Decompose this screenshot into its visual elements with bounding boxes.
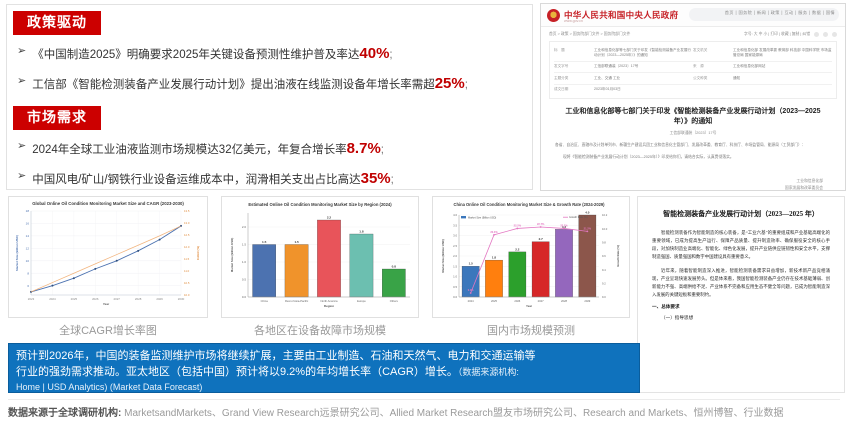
svg-text:China Online Oil Condition Mon: China Online Oil Condition Monitoring Ma…: [453, 202, 605, 207]
chart-caption-3: 国内市场规模预测: [432, 322, 630, 338]
svg-text:2027: 2027: [113, 297, 120, 301]
market-bullet-2-after: ;: [391, 174, 394, 186]
arrow-marker-icon: ➢: [17, 139, 26, 153]
svg-text:4.0: 4.0: [453, 213, 457, 217]
forecast-note-line-1: 预计到2026年，中国的装备监测维护市场将继续扩展，主要由工业制造、石油和天然气…: [16, 349, 632, 365]
svg-text:2030: 2030: [178, 297, 185, 301]
policy-bullet-1-text: 《中国制造2025》明确要求2025年关键设备预测性维护普及率达40%;: [32, 44, 392, 64]
meta-value: 工业、交通 工业: [594, 76, 693, 81]
svg-text:2026: 2026: [514, 299, 520, 303]
svg-text:0.0: 0.0: [453, 295, 457, 299]
policy-bullet-1-after: ;: [389, 49, 392, 61]
gov-body: 首页 > 政策 > 国务院部门文件 > 国务院部门文件 字号: 大 中 小 | …: [541, 27, 845, 191]
market-bullet-1-text: 2024年全球工业油液监测市场规模达32亿美元，年复合增长率8.7%;: [32, 139, 384, 159]
svg-text:0.5: 0.5: [453, 285, 457, 289]
svg-text:9.8: 9.8: [602, 240, 606, 244]
svg-text:Growth Rate (%): Growth Rate (%): [569, 216, 588, 219]
arrow-marker-icon: ➢: [17, 74, 26, 88]
chart-caption-2: 各地区在设备故障市场规模: [221, 322, 419, 338]
svg-text:0.8: 0.8: [392, 264, 397, 268]
svg-text:10.2: 10.2: [602, 213, 608, 217]
svg-text:1.0: 1.0: [242, 260, 247, 264]
footer-divider: [8, 399, 840, 400]
svg-text:2.7: 2.7: [539, 237, 544, 241]
svg-text:22.2%: 22.2%: [560, 223, 568, 227]
gov-signature-2: 国家发展和改革委员会: [549, 185, 823, 191]
svg-text:Market Size (Billion USD): Market Size (Billion USD): [15, 235, 19, 271]
svg-text:North America: North America: [320, 299, 338, 303]
svg-text:14: 14: [26, 234, 30, 238]
svg-text:0.5: 0.5: [242, 278, 247, 282]
svg-text:Year: Year: [103, 302, 110, 306]
meta-key: 成文日期: [554, 87, 594, 92]
gov-website-screenshot: 中华人民共和国中央人民政府 首页 | 国务院 | 新闻 | 政策 | 互动 | …: [540, 3, 846, 191]
svg-text:10.5: 10.5: [184, 281, 190, 285]
svg-text:1.5: 1.5: [262, 240, 267, 244]
table-row: 标 题 工业和信息化部等七部门关于印发《智能检测装备产业发展行动计划（2023—…: [554, 45, 832, 62]
svg-text:20.0%: 20.0%: [490, 230, 498, 234]
footer-label: 数据来源于全球调研机构:: [8, 408, 121, 419]
svg-text:9.0: 9.0: [602, 295, 606, 299]
svg-text:9.6: 9.6: [602, 254, 606, 258]
table-row: 成文日期 2023年01月03日: [554, 85, 832, 95]
chart-card-region-bars: Estimated Online Oil Condition Monitorin…: [221, 196, 419, 318]
chart-card-global-cagr: Global Online Oil Condition Monitoring M…: [8, 196, 208, 318]
svg-text:2024: 2024: [468, 299, 474, 303]
svg-text:CAGR (%): CAGR (%): [196, 246, 200, 260]
policy-bullet-2: ➢ 工信部《智能检测装备产业发展行动计划》提出油液在线监测设备年增长率需超25%…: [17, 74, 532, 94]
svg-text:12.0: 12.0: [184, 245, 190, 249]
data-sources-footer: 数据来源于全球调研机构: MarketsandMarkets、Grand Vie…: [8, 404, 844, 419]
svg-text:1.8: 1.8: [359, 229, 364, 233]
policy-bullet-2-before: 工信部《智能检测装备产业发展行动计划》提出油液在线监测设备年增长率需超: [32, 79, 435, 91]
region-market-bar-chart: Estimated Online Oil Condition Monitorin…: [222, 197, 418, 317]
svg-text:1.5: 1.5: [242, 243, 247, 247]
svg-text:13.0: 13.0: [184, 221, 190, 225]
market-badge: 市场需求: [13, 106, 101, 130]
svg-text:China: China: [261, 299, 269, 303]
svg-text:2.5: 2.5: [453, 244, 457, 248]
gov-toolbar[interactable]: 字号: 大 中 小 | 打印 | 收藏 | 复制 | 纠错: [744, 32, 837, 37]
svg-text:2.0: 2.0: [453, 254, 457, 258]
arrow-marker-icon: ➢: [17, 44, 26, 58]
svg-text:2027: 2027: [538, 299, 544, 303]
gov-document-number: 工信部联通装〔2023〕17号: [549, 131, 837, 136]
doc-paragraph-2: 近年来，随着智能制造深入推进，智能检测装备需求日益增加，新技术新产品竞相涌现，产…: [652, 267, 830, 300]
svg-text:3.5: 3.5: [453, 223, 457, 227]
gov-paragraph-2: 现将《智能检测装备产业发展行动计划（2023—2025年）》印发给你们，请结合实…: [555, 154, 831, 160]
global-cagr-line-chart: Global Online Oil Condition Monitoring M…: [9, 197, 207, 317]
svg-text:2028: 2028: [561, 299, 567, 303]
market-badge-wrap: 市场需求: [13, 106, 532, 130]
svg-text:2025: 2025: [71, 297, 78, 301]
more-icon[interactable]: [832, 32, 837, 37]
svg-text:22.2%: 22.2%: [514, 223, 522, 227]
svg-text:10: 10: [26, 259, 30, 263]
policy-badge: 政策驱动: [13, 11, 101, 35]
svg-text:2029: 2029: [156, 297, 163, 301]
policy-bullet-2-after: ;: [465, 79, 468, 91]
table-row: 发文字号 工信部联通装〔2023〕17号 来 源 工业和信息化部网站: [554, 62, 832, 73]
svg-text:Market Size (Billion USD): Market Size (Billion USD): [441, 239, 445, 272]
meta-value: 2023年01月03日: [594, 87, 832, 92]
meta-value: 工信部联通装〔2023〕17号: [594, 64, 693, 69]
meta-value: 工业和信息化部等七部门关于印发《智能检测装备产业发展行动计划（2023—2025…: [594, 48, 693, 59]
gov-paragraph-1: 各省、自治区、直辖市及计划单列市、新疆生产建设兵团工业和信息化主管部门、发展改革…: [555, 142, 831, 148]
svg-text:12.5: 12.5: [184, 233, 190, 237]
market-bullet-2-highlight: 35%: [361, 170, 391, 187]
svg-text:2.2: 2.2: [327, 215, 332, 219]
gov-header: 中华人民共和国中央人民政府 首页 | 国务院 | 新闻 | 政策 | 互动 | …: [541, 4, 845, 27]
svg-text:0.0%: 0.0%: [468, 288, 475, 292]
svg-text:11.5: 11.5: [184, 257, 190, 261]
svg-text:Estimated Online Oil Condition: Estimated Online Oil Condition Monitorin…: [248, 202, 392, 207]
svg-text:10.0: 10.0: [602, 227, 608, 231]
meta-key-2: 来 源: [693, 64, 733, 69]
gov-nav-links[interactable]: 首页 | 国务院 | 新闻 | 政策 | 互动 | 服务 | 数据 | 国情: [725, 10, 835, 16]
policy-bullet-1: ➢ 《中国制造2025》明确要求2025年关键设备预测性维护普及率达40%;: [17, 44, 532, 64]
svg-text:1.5: 1.5: [453, 264, 457, 268]
slide-root: 政策驱动 ➢ 《中国制造2025》明确要求2025年关键设备预测性维护普及率达4…: [0, 0, 850, 426]
gov-site-url: www.gov.cn: [564, 19, 583, 23]
svg-text:2.2: 2.2: [515, 247, 520, 251]
doc-paragraph-1: 智能检测装备作为智能制造的核心装备，是“工业六基”的重要组成和产业基础高端化的重…: [652, 229, 830, 262]
forecast-note-line-2a: 行业的强劲需求推动。亚太地区（包括中国）预计将以9.2%的年均增长率（CAGR）…: [16, 366, 458, 378]
meta-key: 标 题: [554, 48, 594, 59]
footer-sources: MarketsandMarkets、Grand View Research远景研…: [124, 408, 783, 419]
market-bullet-1-highlight: 8.7%: [347, 140, 381, 157]
market-bullet-1-after: ;: [381, 144, 384, 156]
market-bullet-2-before: 中国风电/矿山/钢铁行业设备运维成本中，润滑相关支出占比高达: [32, 174, 360, 186]
meta-value-2: 通知: [733, 76, 832, 81]
svg-text:16: 16: [26, 222, 30, 226]
svg-text:3.0: 3.0: [453, 234, 457, 238]
svg-text:Year: Year: [526, 304, 533, 308]
svg-text:4.0: 4.0: [585, 210, 590, 214]
svg-text:2023: 2023: [28, 297, 35, 301]
arrow-marker-icon: ➢: [17, 169, 26, 183]
market-bullet-1: ➢ 2024年全球工业油液监测市场规模达32亿美元，年复合增长率8.7%;: [17, 139, 532, 159]
policy-bullet-1-highlight: 40%: [359, 45, 389, 62]
meta-key: 主题分类: [554, 76, 594, 81]
svg-text:2029: 2029: [584, 299, 590, 303]
doc-heading: 一、总体要求: [652, 304, 830, 310]
svg-text:11.0: 11.0: [184, 269, 190, 273]
doc-subheading: （一）指导思想: [652, 315, 830, 321]
svg-text:Others: Others: [390, 299, 399, 303]
policy-bullet-1-before: 《中国制造2025》明确要求2025年关键设备预测性维护普及率达: [32, 49, 359, 61]
policy-badge-wrap: 政策驱动: [13, 11, 532, 35]
table-row: 主题分类 工业、交通 工业 公文种类 通知: [554, 73, 832, 84]
market-bullet-1-before: 2024年全球工业油液监测市场规模达32亿美元，年复合增长率: [32, 144, 346, 156]
svg-text:Growth Rate (%): Growth Rate (%): [616, 245, 620, 267]
svg-text:22.7%: 22.7%: [537, 222, 545, 226]
forecast-note-line-3: Home | USD Analytics) (Market Data Forec…: [16, 381, 632, 394]
svg-text:Global Online Oil Condition Mo: Global Online Oil Condition Monitoring M…: [32, 201, 184, 206]
meta-value-2: 工业和信息化部网站: [733, 64, 832, 69]
forecast-note-line-2: 行业的强劲需求推动。亚太地区（包括中国）预计将以9.2%的年均增长率（CAGR）…: [16, 365, 632, 381]
gov-toolbar-text: 字号: 大 中 小 | 打印 | 收藏 | 复制 | 纠错: [744, 32, 810, 37]
svg-text:Market Size (Billion USD): Market Size (Billion USD): [468, 216, 496, 219]
svg-text:12: 12: [26, 247, 30, 251]
gov-meta-table: 标 题 工业和信息化部等七部门关于印发《智能检测装备产业发展行动计划（2023—…: [549, 41, 837, 99]
share-icon[interactable]: [814, 32, 819, 37]
svg-text:Rest of Asia-Pacific: Rest of Asia-Pacific: [285, 299, 309, 303]
meta-key: 发文字号: [554, 64, 594, 69]
gov-document-title: 工业和信息化部等七部门关于印发《智能检测装备产业发展行动计划（2023—2025…: [559, 107, 827, 128]
svg-text:2024: 2024: [49, 297, 56, 301]
market-bullet-2-text: 中国风电/矿山/钢铁行业设备运维成本中，润滑相关支出占比高达35%;: [32, 169, 394, 189]
svg-text:9.4: 9.4: [602, 268, 606, 272]
chart-caption-1: 全球CAGR增长率图: [8, 322, 208, 338]
chart-card-china-forecast: China Online Oil Condition Monitoring Ma…: [432, 196, 630, 318]
svg-text:2.0: 2.0: [242, 225, 247, 229]
svg-text:Market Size (Billion USD): Market Size (Billion USD): [230, 238, 234, 272]
gov-signature: 工业和信息化部 国家发展和改革委员会: [549, 178, 823, 191]
gov-crumb-row: 首页 > 政策 > 国务院部门文件 > 国务院部门文件 字号: 大 中 小 | …: [549, 32, 837, 37]
policy-market-card: 政策驱动 ➢ 《中国制造2025》明确要求2025年关键设备预测性维护普及率达4…: [6, 4, 533, 190]
svg-text:Europe: Europe: [357, 299, 366, 303]
svg-text:0.0: 0.0: [242, 295, 247, 299]
svg-text:21.2%: 21.2%: [584, 226, 592, 230]
svg-text:1.8: 1.8: [492, 256, 497, 260]
svg-text:1.0: 1.0: [453, 275, 457, 279]
meta-key-2: 发文机关: [693, 48, 733, 59]
china-market-bar-chart: China Online Oil Condition Monitoring Ma…: [433, 197, 629, 317]
forecast-note-box: 预计到2026年，中国的装备监测维护市场将继续扩展，主要由工业制造、石油和天然气…: [8, 343, 640, 393]
svg-text:9.2: 9.2: [602, 281, 606, 285]
meta-value-2: 工业和信息化部 发展改革委 教育部 科技部 中国科学院 市场监管总局 国家能源局: [733, 48, 832, 59]
action-plan-document: 智能检测装备产业发展行动计划（2023—2025 年） 智能检测装备作为智能制造…: [637, 196, 845, 393]
svg-text:10.0: 10.0: [184, 293, 190, 297]
svg-text:18: 18: [26, 209, 30, 213]
svg-text:2028: 2028: [135, 297, 142, 301]
breadcrumb[interactable]: 首页 > 政策 > 国务院部门文件 > 国务院部门文件: [549, 32, 630, 37]
national-emblem-icon: [547, 9, 560, 22]
svg-text:1.5: 1.5: [294, 240, 299, 244]
policy-bullet-2-text: 工信部《智能检测装备产业发展行动计划》提出油液在线监测设备年增长率需超25%;: [32, 74, 468, 94]
meta-key-2: 公文种类: [693, 76, 733, 81]
forecast-note-line-2b: （数据来源机构:: [458, 367, 519, 377]
svg-text:13.5: 13.5: [184, 209, 190, 213]
svg-text:Region: Region: [324, 304, 334, 308]
market-bullet-2: ➢ 中国风电/矿山/钢铁行业设备运维成本中，润滑相关支出占比高达35%;: [17, 169, 532, 189]
svg-text:2026: 2026: [92, 297, 99, 301]
doc-title: 智能检测装备产业发展行动计划（2023—2025 年）: [652, 209, 830, 219]
refresh-icon[interactable]: [823, 32, 828, 37]
policy-bullet-2-highlight: 25%: [435, 75, 465, 92]
svg-text:2025: 2025: [491, 299, 497, 303]
svg-text:1.5: 1.5: [469, 262, 474, 266]
